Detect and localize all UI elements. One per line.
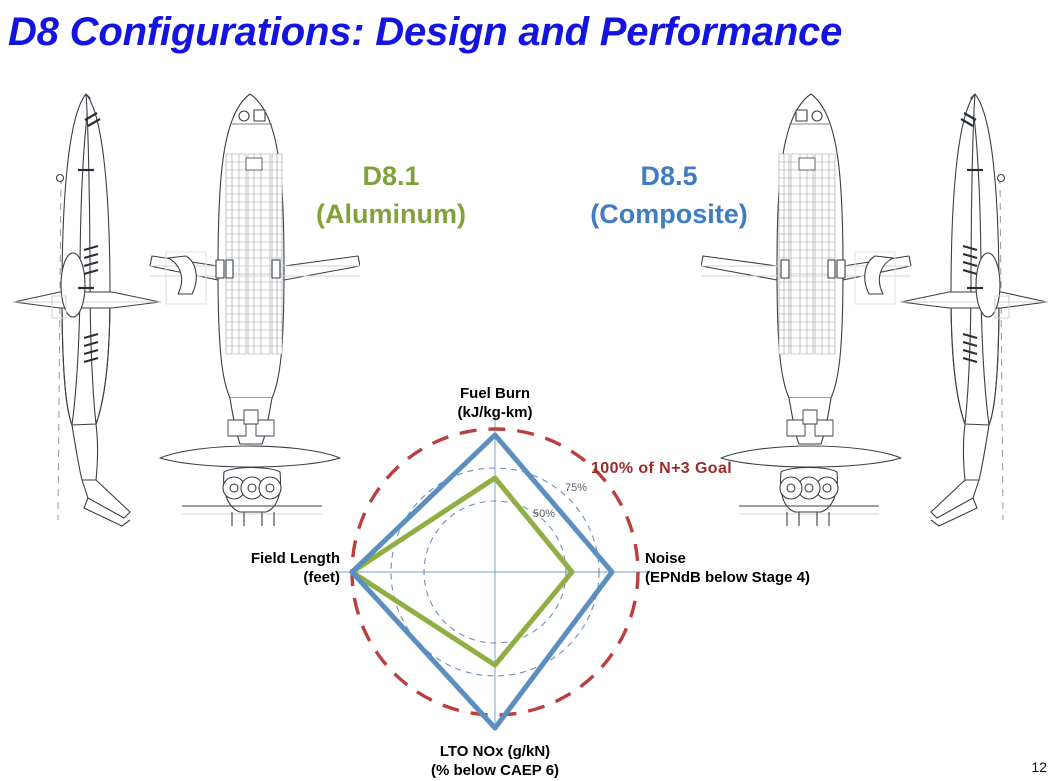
- config-caption-d85: D8.5 (Composite): [560, 157, 778, 233]
- side-view-d81: [14, 94, 160, 526]
- config-name-d81: D8.1: [282, 157, 500, 195]
- slide-canvas: D8 Configurations: Design and Performanc…: [0, 0, 1061, 781]
- radar-axis-label-field-length: Field Length (feet): [180, 549, 340, 587]
- radar-axis-label-fuel-burn: Fuel Burn (kJ/kg-km): [420, 384, 570, 422]
- radar-axis-label-fuel-burn-line1: Fuel Burn: [460, 385, 530, 402]
- radar-goal-annotation: 100% of N+3 Goal: [591, 459, 732, 478]
- radar-axis-label-noise-line2: (EPNdB below Stage 4): [645, 569, 810, 586]
- radar-series-d85-composite: [352, 435, 612, 728]
- radar-axis-label-noise-line1: Noise: [645, 550, 686, 567]
- config-caption-d81: D8.1 (Aluminum): [282, 157, 500, 233]
- radar-axis-label-lto-nox-line2: (% below CAEP 6): [431, 762, 559, 779]
- page-number: 12: [1031, 759, 1047, 775]
- radar-axis-label-lto-nox: LTO NOx (g/kN) (% below CAEP 6): [395, 742, 595, 780]
- page-title: D8 Configurations: Design and Performanc…: [8, 8, 1048, 56]
- radar-ring-label-75: 75%: [565, 482, 587, 494]
- radar-axis-label-fuel-burn-line2: (kJ/kg-km): [457, 404, 532, 421]
- config-name-d85: D8.5: [560, 157, 778, 195]
- radar-axis-label-lto-nox-line1: LTO NOx (g/kN): [440, 743, 550, 760]
- config-material-d81: (Aluminum): [282, 195, 500, 233]
- radar-axis-label-field-length-line2: (feet): [303, 569, 340, 586]
- radar-ring-label-50: 50%: [533, 508, 555, 520]
- side-view-d85: [901, 94, 1047, 526]
- radar-axis-label-noise: Noise (EPNdB below Stage 4): [645, 549, 810, 587]
- config-material-d85: (Composite): [560, 195, 778, 233]
- radar-axis-label-field-length-line1: Field Length: [251, 550, 340, 567]
